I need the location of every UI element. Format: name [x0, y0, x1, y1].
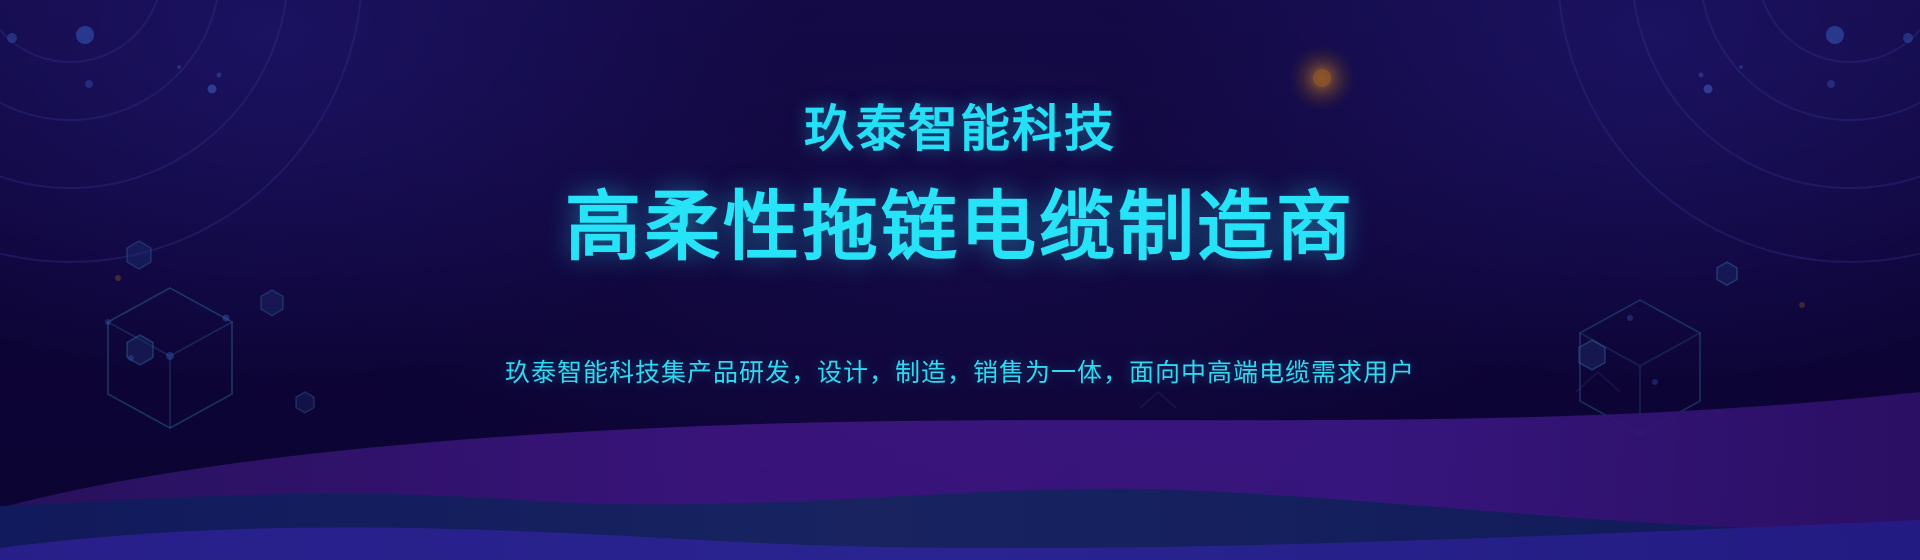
page-title: 高柔性拖链电缆制造商 — [565, 190, 1355, 266]
hero-banner: 玖泰智能科技 高柔性拖链电缆制造商 玖泰智能科技集产品研发，设计，制造，销售为一… — [0, 0, 1920, 560]
hero-content: 玖泰智能科技 高柔性拖链电缆制造商 玖泰智能科技集产品研发，设计，制造，销售为一… — [0, 0, 1920, 560]
company-name: 玖泰智能科技 — [804, 104, 1116, 154]
hero-description: 玖泰智能科技集产品研发，设计，制造，销售为一体，面向中高端电缆需求用户 — [505, 361, 1415, 386]
